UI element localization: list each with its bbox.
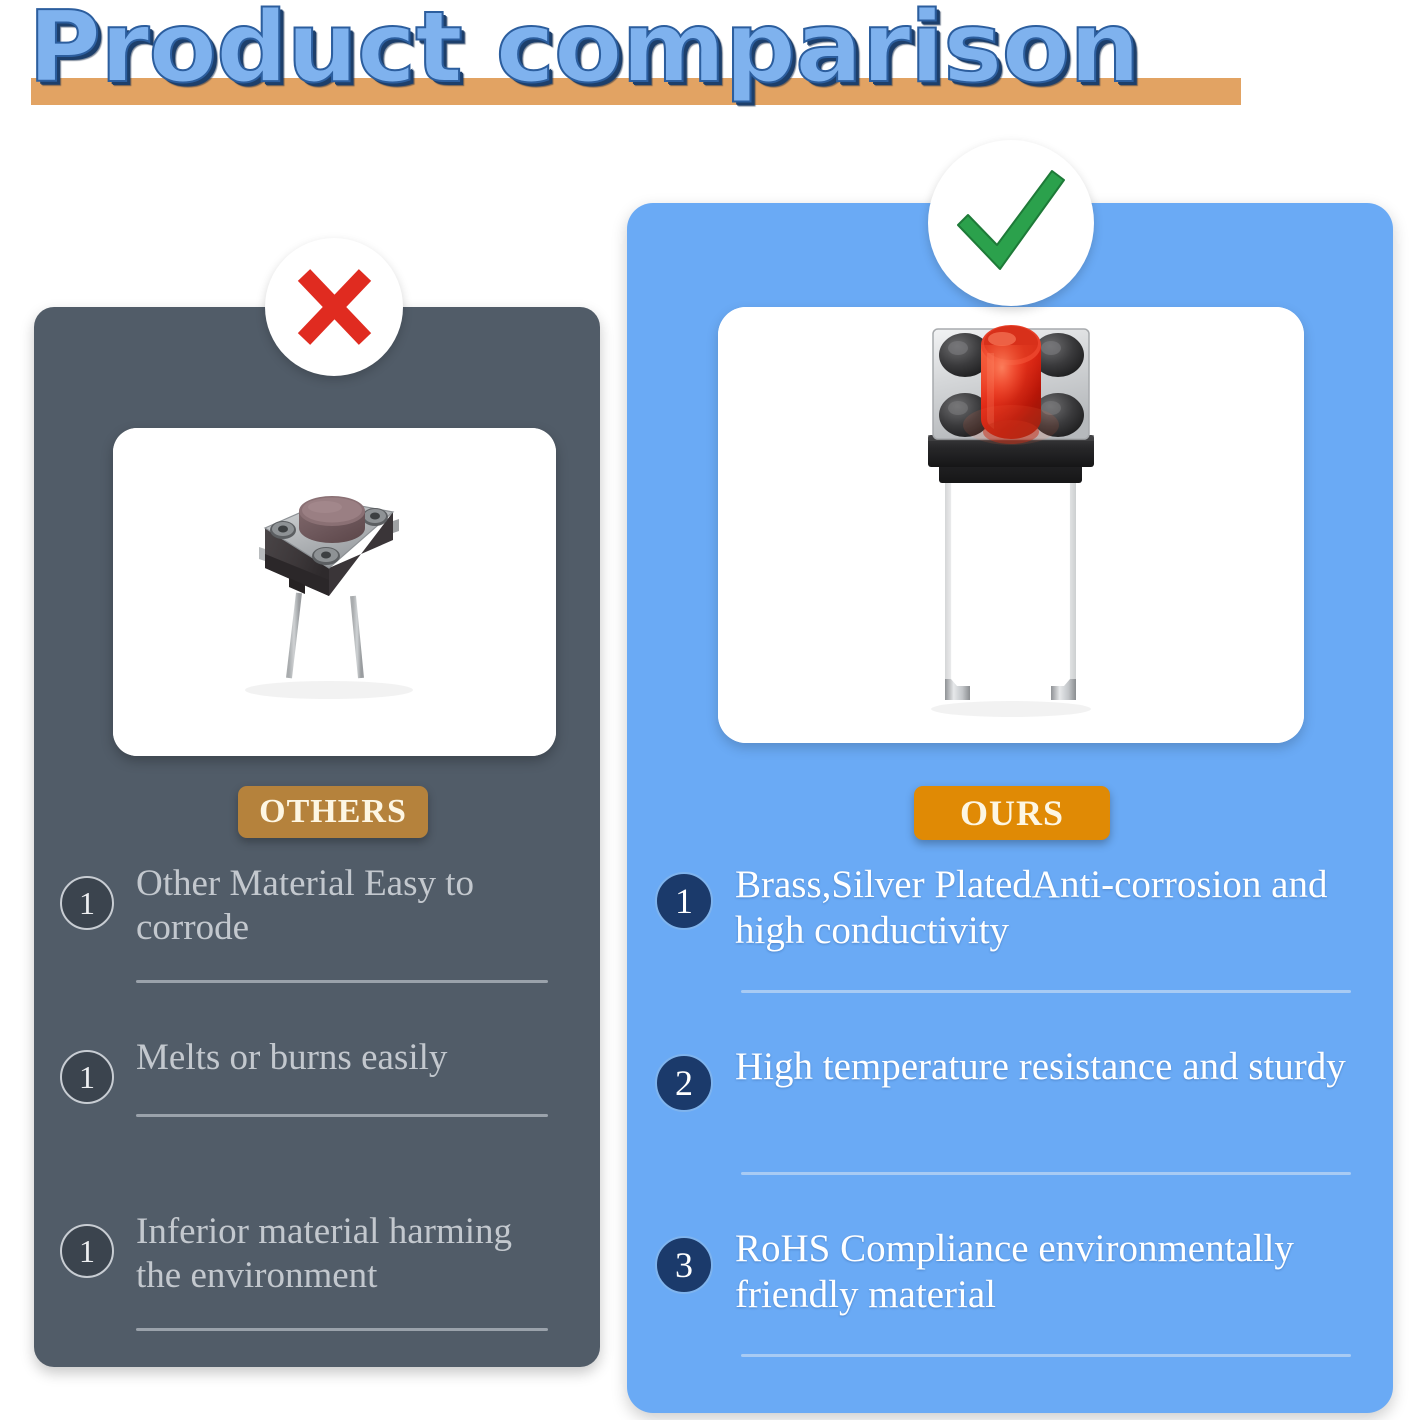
cross-mark-badge — [265, 238, 403, 376]
cross-mark-icon — [288, 261, 380, 353]
tactile-switch-red-image — [718, 307, 1304, 743]
others-feature-text-1: Other Material Easy to corrode — [136, 862, 560, 950]
others-feature-divider-2 — [136, 1114, 548, 1117]
others-feature-divider-1 — [136, 980, 548, 983]
ours-feature-number-2: 2 — [655, 1054, 713, 1112]
ours-feature-divider-3 — [741, 1354, 1351, 1357]
others-label-badge: OTHERS — [238, 786, 428, 838]
others-feature-divider-3 — [136, 1328, 548, 1331]
others-feature-item-2: 1 Melts or burns easily — [60, 1036, 560, 1210]
ours-feature-list: 1 Brass,Silver PlatedAnti-corrosion and … — [655, 862, 1367, 1408]
ours-label-badge: OURS — [914, 786, 1110, 840]
ours-feature-divider-1 — [741, 990, 1351, 993]
others-feature-text-3: Inferior material harming the environmen… — [136, 1210, 560, 1298]
ours-feature-divider-2 — [741, 1172, 1351, 1175]
ours-feature-text-3: RoHS Compliance environmentally friendly… — [735, 1226, 1367, 1318]
others-feature-text-2: Melts or burns easily — [136, 1036, 560, 1080]
ours-feature-item-3: 3 RoHS Compliance environmentally friend… — [655, 1226, 1367, 1408]
ours-product-image-card — [718, 307, 1304, 743]
title-area: Product comparison — [0, 0, 1420, 125]
check-mark-icon — [948, 163, 1074, 283]
others-feature-list: 1 Other Material Easy to corrode 1 Melts… — [60, 862, 560, 1384]
ours-feature-item-2: 2 High temperature resistance and sturdy — [655, 1044, 1367, 1226]
others-feature-number-3: 1 — [60, 1224, 114, 1278]
ours-feature-item-1: 1 Brass,Silver PlatedAnti-corrosion and … — [655, 862, 1367, 1044]
others-product-image-card — [113, 428, 556, 756]
others-feature-number-1: 1 — [60, 876, 114, 930]
others-feature-number-2: 1 — [60, 1050, 114, 1104]
ours-feature-text-2: High temperature resistance and sturdy — [735, 1044, 1367, 1090]
check-mark-badge — [928, 140, 1094, 306]
tactile-switch-plain-image — [113, 428, 556, 756]
ours-feature-number-1: 1 — [655, 872, 713, 930]
others-feature-item-3: 1 Inferior material harming the environm… — [60, 1210, 560, 1384]
ours-feature-number-3: 3 — [655, 1236, 713, 1294]
ours-feature-text-1: Brass,Silver PlatedAnti-corrosion and hi… — [735, 862, 1367, 954]
others-feature-item-1: 1 Other Material Easy to corrode — [60, 862, 560, 1036]
page-title: Product comparison — [28, 0, 1415, 100]
